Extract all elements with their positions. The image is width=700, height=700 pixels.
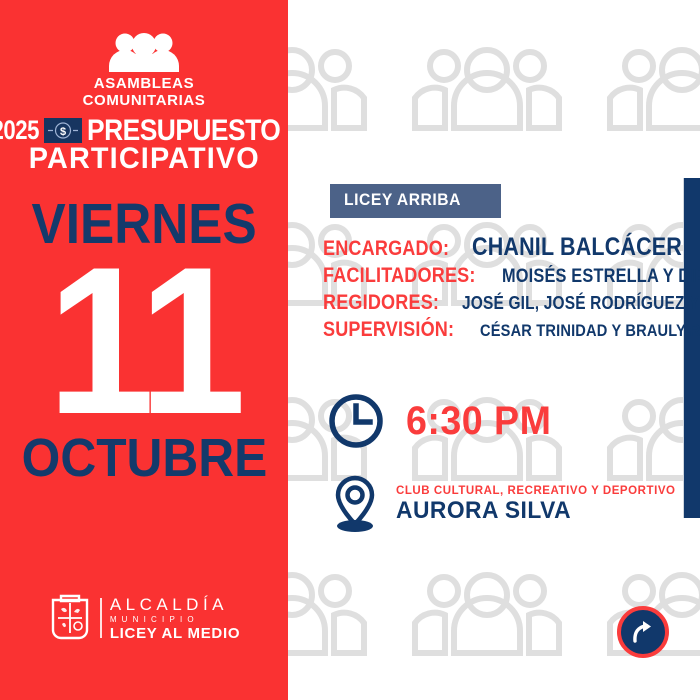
staff-row: SUPERVISIÓN: CÉSAR TRINIDAD Y BRAULY ROD… <box>323 318 683 342</box>
event-location-text: CLUB CULTURAL, RECREATIVO Y DEPORTIVO AU… <box>396 485 676 524</box>
money-dollar-icon: $ <box>44 118 82 143</box>
brand-year: 2025 <box>0 117 39 144</box>
city-logo-municipio: MUNICIPIO <box>110 614 240 625</box>
staff-names: CHANIL BALCÁCER <box>472 234 682 260</box>
right-content-panel: LICEY ARRIBA ENCARGADO: CHANIL BALCÁCER … <box>288 0 700 700</box>
right-edge-accent-bar <box>683 178 700 518</box>
staff-role-label: REGIDORES: <box>323 291 439 315</box>
event-time-row: 6:30 PM <box>328 393 561 449</box>
staff-row: ENCARGADO: CHANIL BALCÁCER <box>323 234 683 261</box>
zone-badge-label: LICEY ARRIBA <box>344 191 461 208</box>
event-time: 6:30 PM <box>406 401 551 441</box>
map-pin-icon <box>330 474 380 534</box>
city-logo-text: ALCALDÍA MUNICIPIO LICEY AL MEDIO <box>110 595 240 642</box>
staff-role-label: SUPERVISIÓN: <box>323 318 454 342</box>
staff-names: MOISÉS ESTRELLA Y DIEGO DE ASÍS <box>502 266 700 288</box>
staff-row: FACILITADORES: MOISÉS ESTRELLA Y DIEGO D… <box>323 264 683 288</box>
brand-line-comunitarias: COMUNITARIAS <box>83 92 206 109</box>
date-month: OCTUBRE <box>21 431 267 485</box>
date-block: VIERNES 11 OCTUBRE <box>0 196 288 485</box>
date-day-number: 11 <box>47 247 240 435</box>
city-logo-municipality-name: LICEY AL MEDIO <box>110 625 240 642</box>
staff-names: JOSÉ GIL, JOSÉ RODRÍGUEZ Y JOSÉ DURÁN <box>462 292 700 314</box>
share-button[interactable] <box>617 606 669 658</box>
budget-row: 2025 $ PRESUPUESTO <box>0 116 307 145</box>
left-red-panel: ASAMBLEAS COMUNITARIAS 2025 $ PRESUPUEST… <box>0 0 288 700</box>
staff-list: ENCARGADO: CHANIL BALCÁCER FACILITADORES… <box>323 234 683 345</box>
event-location-name: AURORA SILVA <box>396 498 662 524</box>
event-location-row: CLUB CULTURAL, RECREATIVO Y DEPORTIVO AU… <box>330 474 676 534</box>
brand-line-asambleas: ASAMBLEAS <box>94 75 194 92</box>
staff-row: REGIDORES: JOSÉ GIL, JOSÉ RODRÍGUEZ Y JO… <box>323 291 683 315</box>
logo-divider <box>100 598 102 638</box>
brand-word-participativo: PARTICIPATIVO <box>28 144 259 174</box>
staff-role-label: FACILITADORES: <box>323 264 476 288</box>
share-arrow-icon <box>629 618 657 646</box>
zone-badge: LICEY ARRIBA <box>330 184 501 218</box>
staff-role-label: ENCARGADO: <box>323 237 449 261</box>
people-group-icon <box>100 32 188 72</box>
city-hall-logo: ALCALDÍA MUNICIPIO LICEY AL MEDIO <box>0 594 288 642</box>
staff-names: CÉSAR TRINIDAD Y BRAULY RODRÍGUEZ <box>480 320 700 342</box>
city-logo-alcaldia: ALCALDÍA <box>110 595 240 614</box>
poster-canvas: ASAMBLEAS COMUNITARIAS 2025 $ PRESUPUEST… <box>0 0 700 700</box>
brand-block: ASAMBLEAS COMUNITARIAS 2025 $ PRESUPUEST… <box>0 32 288 174</box>
coat-of-arms-icon <box>48 594 92 642</box>
clock-icon <box>328 393 384 449</box>
svg-text:$: $ <box>60 126 66 138</box>
brand-word-presupuesto: PRESUPUESTO <box>87 116 280 145</box>
